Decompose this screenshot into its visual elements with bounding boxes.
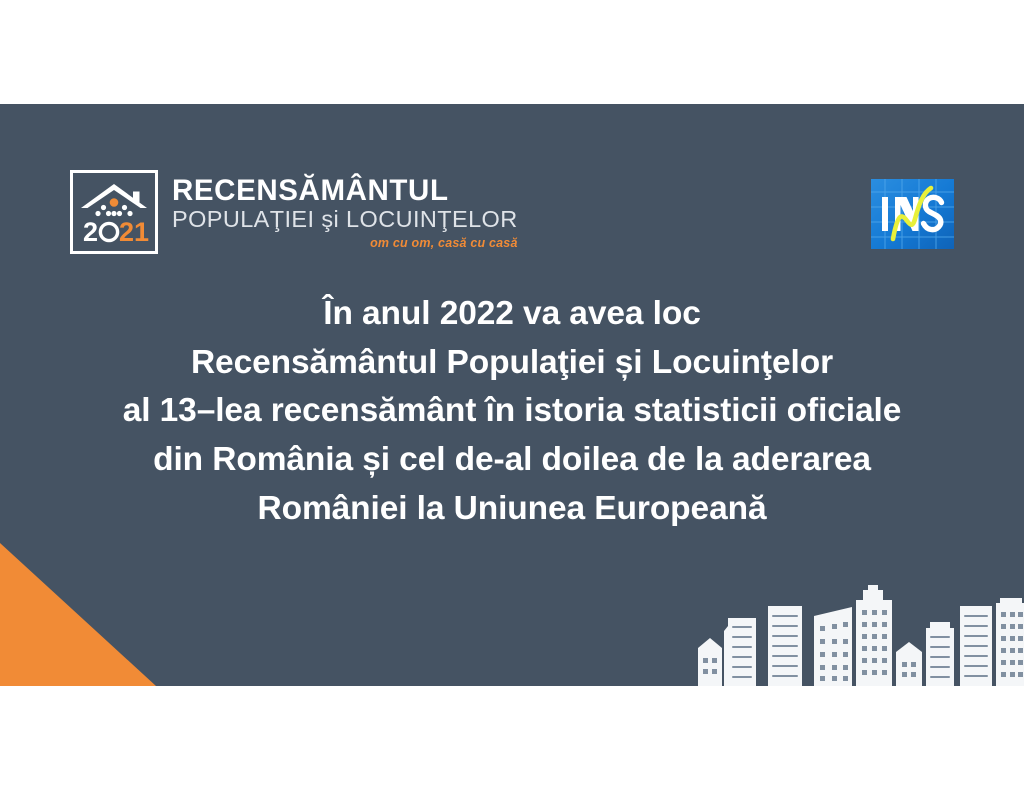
city-skyline-silhouette xyxy=(680,576,1024,686)
orange-corner-triangle xyxy=(0,543,156,686)
headline-block: În anul 2022 va avea loc Recensământul P… xyxy=(0,290,1024,534)
wordmark-line-1: RECENSĂMÂNTUL xyxy=(172,176,449,206)
headline-line-3: al 13–lea recensământ în istoria statist… xyxy=(0,387,1024,436)
svg-text:21: 21 xyxy=(119,217,149,247)
svg-text:2: 2 xyxy=(83,217,98,247)
census-wordmark: RECENSĂMÂNTUL POPULAŢIEI şi LOCUINŢELOR … xyxy=(172,170,518,250)
census-house-2021-mark: 2 21 xyxy=(70,170,158,254)
census-tagline: om cu om, casă cu casă xyxy=(370,236,518,250)
wordmark-line-2: POPULAŢIEI şi LOCUINŢELOR xyxy=(172,207,518,232)
headline-line-5: României la Uniunea Europeană xyxy=(0,485,1024,534)
headline-line-1: În anul 2022 va avea loc xyxy=(0,290,1024,339)
ins-logo xyxy=(871,179,954,249)
presentation-slide: 2 21 RECENSĂMÂNTUL POPULAŢIEI şi LOCUINŢ… xyxy=(0,104,1024,686)
headline-line-2: Recensământul Populaţiei și Locuinţelor xyxy=(0,339,1024,388)
census-logo-lockup: 2 21 RECENSĂMÂNTUL POPULAŢIEI şi LOCUINŢ… xyxy=(70,170,518,254)
headline-line-4: din România și cel de-al doilea de la ad… xyxy=(0,436,1024,485)
